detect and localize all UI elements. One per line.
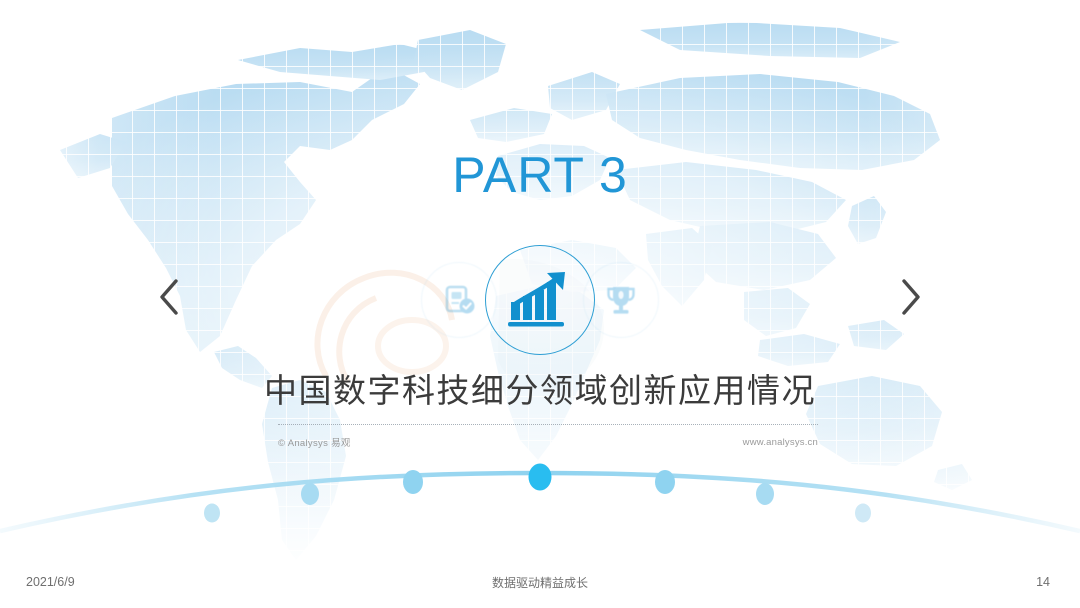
footer-tagline: 数据驱动精益成长 — [0, 574, 1080, 591]
progress-dot — [301, 483, 319, 505]
credit-row: © Analysys 易观 www.analysys.cn — [278, 435, 818, 449]
growth-chart-icon — [507, 270, 573, 330]
progress-dot — [655, 470, 675, 494]
progress-arc-svg — [0, 455, 1080, 560]
website-link[interactable]: www.analysys.cn — [743, 437, 818, 448]
slide-canvas: PART 3 — [0, 0, 1080, 608]
growth-chart-icon-ring — [485, 245, 595, 355]
title-divider — [278, 424, 818, 425]
chevron-right-icon — [899, 277, 923, 317]
chevron-left-icon — [157, 277, 181, 317]
copyright-text: © Analysys 易观 — [278, 435, 351, 449]
part-label: PART 3 — [0, 150, 1080, 200]
progress-dot — [756, 483, 774, 505]
progress-dot — [204, 504, 220, 523]
slide-footer: 2021/6/9 数据驱动精益成长 14 — [0, 556, 1080, 608]
prev-section-button[interactable] — [146, 272, 192, 322]
icon-slot-left — [433, 262, 485, 338]
icon-slot-right — [595, 262, 647, 338]
section-title: 中国数字科技细分领域创新应用情况 — [0, 370, 1080, 411]
document-check-icon — [440, 281, 478, 319]
progress-dot-active — [529, 464, 552, 491]
progress-dot — [403, 470, 423, 494]
trophy-icon — [603, 282, 639, 318]
icon-slot-center — [485, 245, 595, 355]
progress-arc — [0, 455, 1080, 560]
next-section-button[interactable] — [888, 272, 934, 322]
footer-page-number: 14 — [1036, 575, 1050, 589]
progress-dot — [855, 504, 871, 523]
